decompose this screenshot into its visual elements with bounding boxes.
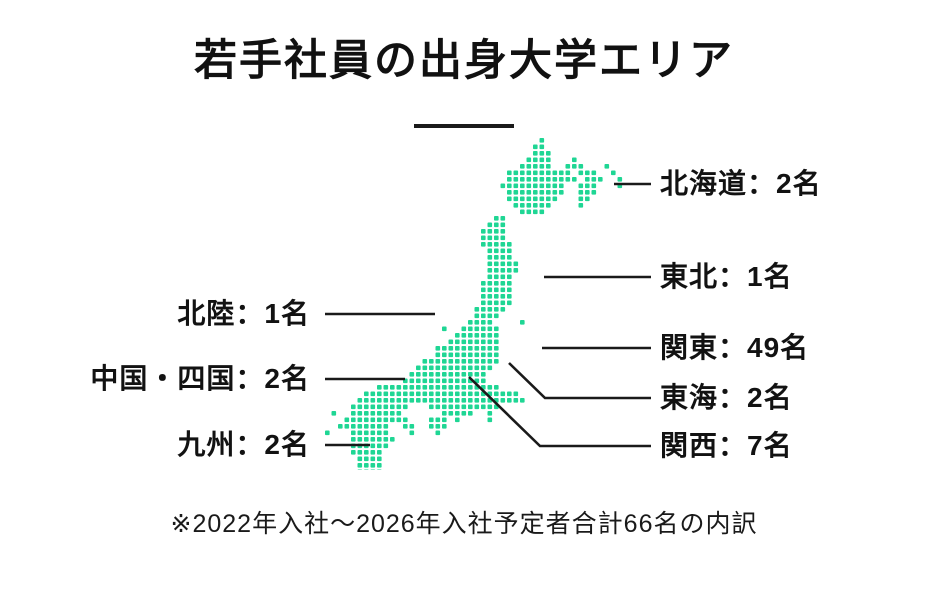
- map-dot: [455, 392, 460, 397]
- map-dot: [533, 158, 538, 163]
- map-dot: [468, 372, 473, 377]
- map-dot: [488, 333, 493, 338]
- map-dot: [351, 411, 356, 416]
- map-dot: [436, 405, 441, 410]
- map-dot: [605, 164, 610, 169]
- map-dot: [371, 405, 376, 410]
- map-dot: [423, 366, 428, 371]
- map-dot: [507, 262, 512, 267]
- label-chugoku-shikoku: 中国・四国：2名: [0, 365, 310, 393]
- map-dot: [481, 320, 486, 325]
- map-dot: [488, 346, 493, 351]
- map-dot: [488, 281, 493, 286]
- map-dot: [501, 268, 506, 273]
- map-dot: [540, 164, 545, 169]
- map-dot: [540, 151, 545, 156]
- map-dot: [390, 411, 395, 416]
- map-dot: [494, 405, 499, 410]
- map-dot: [449, 340, 454, 345]
- map-dot: [481, 359, 486, 364]
- map-dot: [416, 398, 421, 403]
- map-dot: [481, 294, 486, 299]
- map-dot: [455, 398, 460, 403]
- japan-dot-map-svg: [325, 138, 635, 470]
- map-dot: [520, 171, 525, 176]
- map-dot: [429, 359, 434, 364]
- map-dot: [481, 314, 486, 319]
- map-dot: [475, 333, 480, 338]
- map-dot: [553, 197, 558, 202]
- map-dot: [488, 268, 493, 273]
- map-dot: [592, 190, 597, 195]
- map-dot: [403, 392, 408, 397]
- map-dot: [501, 216, 506, 221]
- map-dot: [410, 372, 415, 377]
- map-dot: [462, 405, 467, 410]
- map-dot: [494, 353, 499, 358]
- map-dot: [436, 424, 441, 429]
- map-dot: [358, 418, 363, 423]
- map-dot: [371, 392, 376, 397]
- map-dot: [475, 405, 480, 410]
- label-tohoku: 東北：1名: [660, 263, 793, 291]
- map-dot: [579, 203, 584, 208]
- map-dot: [377, 405, 382, 410]
- map-dot: [507, 301, 512, 306]
- map-dot: [488, 255, 493, 260]
- map-dot: [494, 385, 499, 390]
- map-dot: [384, 424, 389, 429]
- map-dot: [585, 184, 590, 189]
- map-dot: [468, 320, 473, 325]
- map-dot: [585, 190, 590, 195]
- map-dot: [397, 385, 402, 390]
- map-dot: [579, 190, 584, 195]
- map-dot: [364, 411, 369, 416]
- map-dot: [481, 379, 486, 384]
- map-dot: [462, 353, 467, 358]
- map-dot: [494, 392, 499, 397]
- map-dot: [553, 177, 558, 182]
- map-dot: [585, 171, 590, 176]
- map-dot: [429, 405, 434, 410]
- map-dot: [429, 366, 434, 371]
- map-dot: [455, 372, 460, 377]
- map-dot: [384, 437, 389, 442]
- map-dot: [481, 405, 486, 410]
- map-dot: [481, 346, 486, 351]
- map-dot: [462, 327, 467, 332]
- map-dot: [494, 262, 499, 267]
- map-dot: [423, 379, 428, 384]
- map-dot: [358, 470, 363, 471]
- map-dot: [488, 223, 493, 228]
- map-dot: [514, 398, 519, 403]
- map-dot: [507, 398, 512, 403]
- map-dot: [390, 392, 395, 397]
- map-dot: [520, 320, 525, 325]
- map-dot: [533, 210, 538, 215]
- map-dot: [455, 346, 460, 351]
- map-dot: [507, 249, 512, 254]
- map-dot: [572, 177, 577, 182]
- map-dot: [494, 288, 499, 293]
- map-dot: [501, 301, 506, 306]
- map-dot: [351, 424, 356, 429]
- map-dot: [488, 418, 493, 423]
- map-dot: [579, 184, 584, 189]
- map-dot: [384, 418, 389, 423]
- map-dot: [403, 385, 408, 390]
- map-dot: [416, 385, 421, 390]
- map-dot: [462, 340, 467, 345]
- map-dot: [351, 437, 356, 442]
- map-dot: [553, 171, 558, 176]
- map-dot: [377, 411, 382, 416]
- map-dot: [371, 424, 376, 429]
- map-dot: [377, 418, 382, 423]
- map-dot: [585, 177, 590, 182]
- map-dot: [449, 366, 454, 371]
- map-dot: [501, 288, 506, 293]
- map-dot: [455, 405, 460, 410]
- map-dot: [442, 385, 447, 390]
- map-dot: [520, 210, 525, 215]
- map-dot: [423, 372, 428, 377]
- map-dot: [377, 450, 382, 455]
- map-dot: [371, 450, 376, 455]
- map-dot: [455, 340, 460, 345]
- map-dot: [501, 255, 506, 260]
- map-dot: [345, 424, 350, 429]
- map-dot: [384, 405, 389, 410]
- map-dot: [488, 398, 493, 403]
- map-dot: [449, 353, 454, 358]
- map-dot: [494, 216, 499, 221]
- map-dot: [436, 398, 441, 403]
- map-dot: [377, 385, 382, 390]
- map-dot: [540, 203, 545, 208]
- map-dot: [429, 392, 434, 397]
- label-kyushu: 九州：2名: [0, 431, 310, 459]
- map-dot: [384, 431, 389, 436]
- map-dot: [527, 171, 532, 176]
- map-dot: [462, 333, 467, 338]
- map-dot: [455, 418, 460, 423]
- map-dot: [494, 346, 499, 351]
- map-dot: [527, 210, 532, 215]
- infographic-page: 若手社員の出身大学エリア 北海道：2名 東北：1名 関東：49名 東海：2名 関…: [0, 0, 928, 600]
- map-dot: [423, 359, 428, 364]
- map-dot: [559, 177, 564, 182]
- map-dot: [494, 275, 499, 280]
- map-dot: [527, 190, 532, 195]
- map-dot: [468, 411, 473, 416]
- map-dot: [416, 379, 421, 384]
- map-dot: [540, 177, 545, 182]
- map-dot: [410, 392, 415, 397]
- map-dot: [429, 398, 434, 403]
- map-dot: [514, 392, 519, 397]
- map-dot: [514, 262, 519, 267]
- map-dot: [488, 301, 493, 306]
- map-dot: [468, 359, 473, 364]
- map-dot: [358, 411, 363, 416]
- map-dot: [488, 236, 493, 241]
- map-dot: [423, 398, 428, 403]
- map-dot: [494, 249, 499, 254]
- map-dot: [462, 366, 467, 371]
- map-dot: [494, 281, 499, 286]
- map-dot: [397, 418, 402, 423]
- map-dot: [481, 236, 486, 241]
- map-dot: [514, 197, 519, 202]
- map-dot: [527, 164, 532, 169]
- map-dot: [494, 301, 499, 306]
- map-dot: [364, 405, 369, 410]
- map-dot: [462, 379, 467, 384]
- map-dot: [514, 177, 519, 182]
- map-dot: [436, 392, 441, 397]
- map-dot: [449, 405, 454, 410]
- map-dot: [384, 385, 389, 390]
- map-dot: [475, 392, 480, 397]
- map-dot: [384, 392, 389, 397]
- map-dot: [358, 431, 363, 436]
- map-dot: [533, 145, 538, 150]
- map-dot: [494, 236, 499, 241]
- map-dot: [397, 398, 402, 403]
- map-dot: [514, 171, 519, 176]
- map-dot: [436, 418, 441, 423]
- map-dot: [559, 184, 564, 189]
- map-dot: [481, 229, 486, 234]
- map-dot: [468, 405, 473, 410]
- map-dot: [371, 463, 376, 468]
- map-dot: [585, 197, 590, 202]
- map-dot: [488, 242, 493, 247]
- map-dot: [533, 190, 538, 195]
- map-dot: [527, 177, 532, 182]
- map-dot: [442, 424, 447, 429]
- map-dot: [475, 359, 480, 364]
- map-dot: [455, 379, 460, 384]
- map-dot: [514, 268, 519, 273]
- map-dot: [358, 463, 363, 468]
- map-dot: [403, 379, 408, 384]
- map-dot: [481, 366, 486, 371]
- map-dot: [520, 164, 525, 169]
- map-dot: [442, 411, 447, 416]
- map-dot: [436, 366, 441, 371]
- map-dot: [377, 470, 382, 471]
- map-dot: [364, 470, 369, 471]
- map-dot: [351, 444, 356, 449]
- map-dot: [546, 203, 551, 208]
- map-dot: [501, 281, 506, 286]
- map-dot: [540, 145, 545, 150]
- map-dot: [390, 437, 395, 442]
- map-dot: [494, 268, 499, 273]
- map-dot: [462, 346, 467, 351]
- map-dot: [468, 353, 473, 358]
- map-dot: [455, 333, 460, 338]
- map-dot: [611, 171, 616, 176]
- map-dot: [371, 431, 376, 436]
- map-dot: [579, 164, 584, 169]
- map-dot: [377, 463, 382, 468]
- map-dot: [364, 463, 369, 468]
- map-dot: [364, 450, 369, 455]
- map-dot: [481, 281, 486, 286]
- map-dot: [488, 353, 493, 358]
- map-dot: [416, 372, 421, 377]
- map-dot: [572, 164, 577, 169]
- map-dot: [566, 171, 571, 176]
- map-dot: [455, 411, 460, 416]
- map-dot: [579, 197, 584, 202]
- map-dot: [501, 229, 506, 234]
- map-dot: [481, 398, 486, 403]
- map-dot: [455, 359, 460, 364]
- map-dot: [520, 177, 525, 182]
- map-dot: [364, 392, 369, 397]
- map-dot: [507, 392, 512, 397]
- map-dot: [475, 366, 480, 371]
- map-dot: [449, 385, 454, 390]
- map-dot: [540, 171, 545, 176]
- map-dot: [546, 164, 551, 169]
- map-dot: [390, 398, 395, 403]
- map-dot: [488, 229, 493, 234]
- map-dot: [449, 372, 454, 377]
- map-dot: [475, 340, 480, 345]
- map-dot: [384, 444, 389, 449]
- map-dot: [488, 249, 493, 254]
- map-dot: [468, 346, 473, 351]
- map-dot: [533, 197, 538, 202]
- map-dot: [358, 450, 363, 455]
- map-dot: [475, 379, 480, 384]
- map-dot: [442, 379, 447, 384]
- map-dot: [371, 398, 376, 403]
- map-dot: [449, 398, 454, 403]
- map-dot: [390, 418, 395, 423]
- map-dot: [468, 392, 473, 397]
- map-dot: [488, 359, 493, 364]
- map-dot: [527, 197, 532, 202]
- map-dot: [553, 184, 558, 189]
- map-dot: [364, 437, 369, 442]
- map-dot: [514, 190, 519, 195]
- map-dot: [468, 379, 473, 384]
- map-dot: [514, 203, 519, 208]
- map-dot: [507, 171, 512, 176]
- map-dot: [546, 177, 551, 182]
- map-dot: [358, 437, 363, 442]
- map-dot: [364, 457, 369, 462]
- map-dot: [371, 418, 376, 423]
- map-dot: [488, 262, 493, 267]
- map-dot: [507, 242, 512, 247]
- map-dot: [572, 158, 577, 163]
- map-dot: [520, 197, 525, 202]
- map-dot: [371, 411, 376, 416]
- label-hokkaido: 北海道：2名: [660, 170, 822, 198]
- map-dot: [520, 184, 525, 189]
- map-dot: [416, 366, 421, 371]
- map-dot: [546, 151, 551, 156]
- map-dot: [507, 288, 512, 293]
- map-dot: [423, 385, 428, 390]
- map-dot: [566, 164, 571, 169]
- map-dot: [455, 353, 460, 358]
- map-dot: [501, 398, 506, 403]
- map-dot: [507, 190, 512, 195]
- map-dot: [494, 359, 499, 364]
- map-dot: [410, 424, 415, 429]
- map-dot: [579, 171, 584, 176]
- map-dot: [527, 158, 532, 163]
- map-dot: [546, 158, 551, 163]
- map-dot: [501, 262, 506, 267]
- map-dot: [429, 418, 434, 423]
- map-dot: [481, 327, 486, 332]
- map-dot: [358, 405, 363, 410]
- map-dot: [488, 405, 493, 410]
- map-dot: [540, 184, 545, 189]
- footnote: ※2022年入社～2026年入社予定者合計66名の内訳: [0, 504, 928, 540]
- map-dot: [475, 320, 480, 325]
- map-dot: [468, 366, 473, 371]
- map-dot: [520, 203, 525, 208]
- map-dot: [592, 171, 597, 176]
- map-dot: [494, 340, 499, 345]
- map-dot: [377, 437, 382, 442]
- map-dot: [507, 268, 512, 273]
- map-dot: [364, 424, 369, 429]
- map-dot: [442, 366, 447, 371]
- map-dot: [488, 307, 493, 312]
- map-dot: [527, 203, 532, 208]
- map-dot: [488, 327, 493, 332]
- map-dot: [494, 327, 499, 332]
- map-dot: [533, 203, 538, 208]
- map-dot: [481, 288, 486, 293]
- map-dot: [429, 379, 434, 384]
- label-tokai: 東海：2名: [660, 384, 793, 412]
- map-dot: [559, 171, 564, 176]
- map-dot: [442, 405, 447, 410]
- map-dot: [598, 177, 603, 182]
- map-dot: [488, 314, 493, 319]
- map-dot: [488, 288, 493, 293]
- map-dot: [533, 171, 538, 176]
- map-dot: [462, 398, 467, 403]
- map-dot: [533, 164, 538, 169]
- map-dot: [345, 418, 350, 423]
- map-dot: [481, 301, 486, 306]
- map-dot: [481, 307, 486, 312]
- map-dot: [501, 184, 506, 189]
- map-dot: [507, 255, 512, 260]
- map-dot: [488, 366, 493, 371]
- map-dot: [436, 353, 441, 358]
- map-dot: [501, 223, 506, 228]
- map-dot: [449, 359, 454, 364]
- map-dot: [377, 444, 382, 449]
- title-underline-rule: [414, 124, 514, 128]
